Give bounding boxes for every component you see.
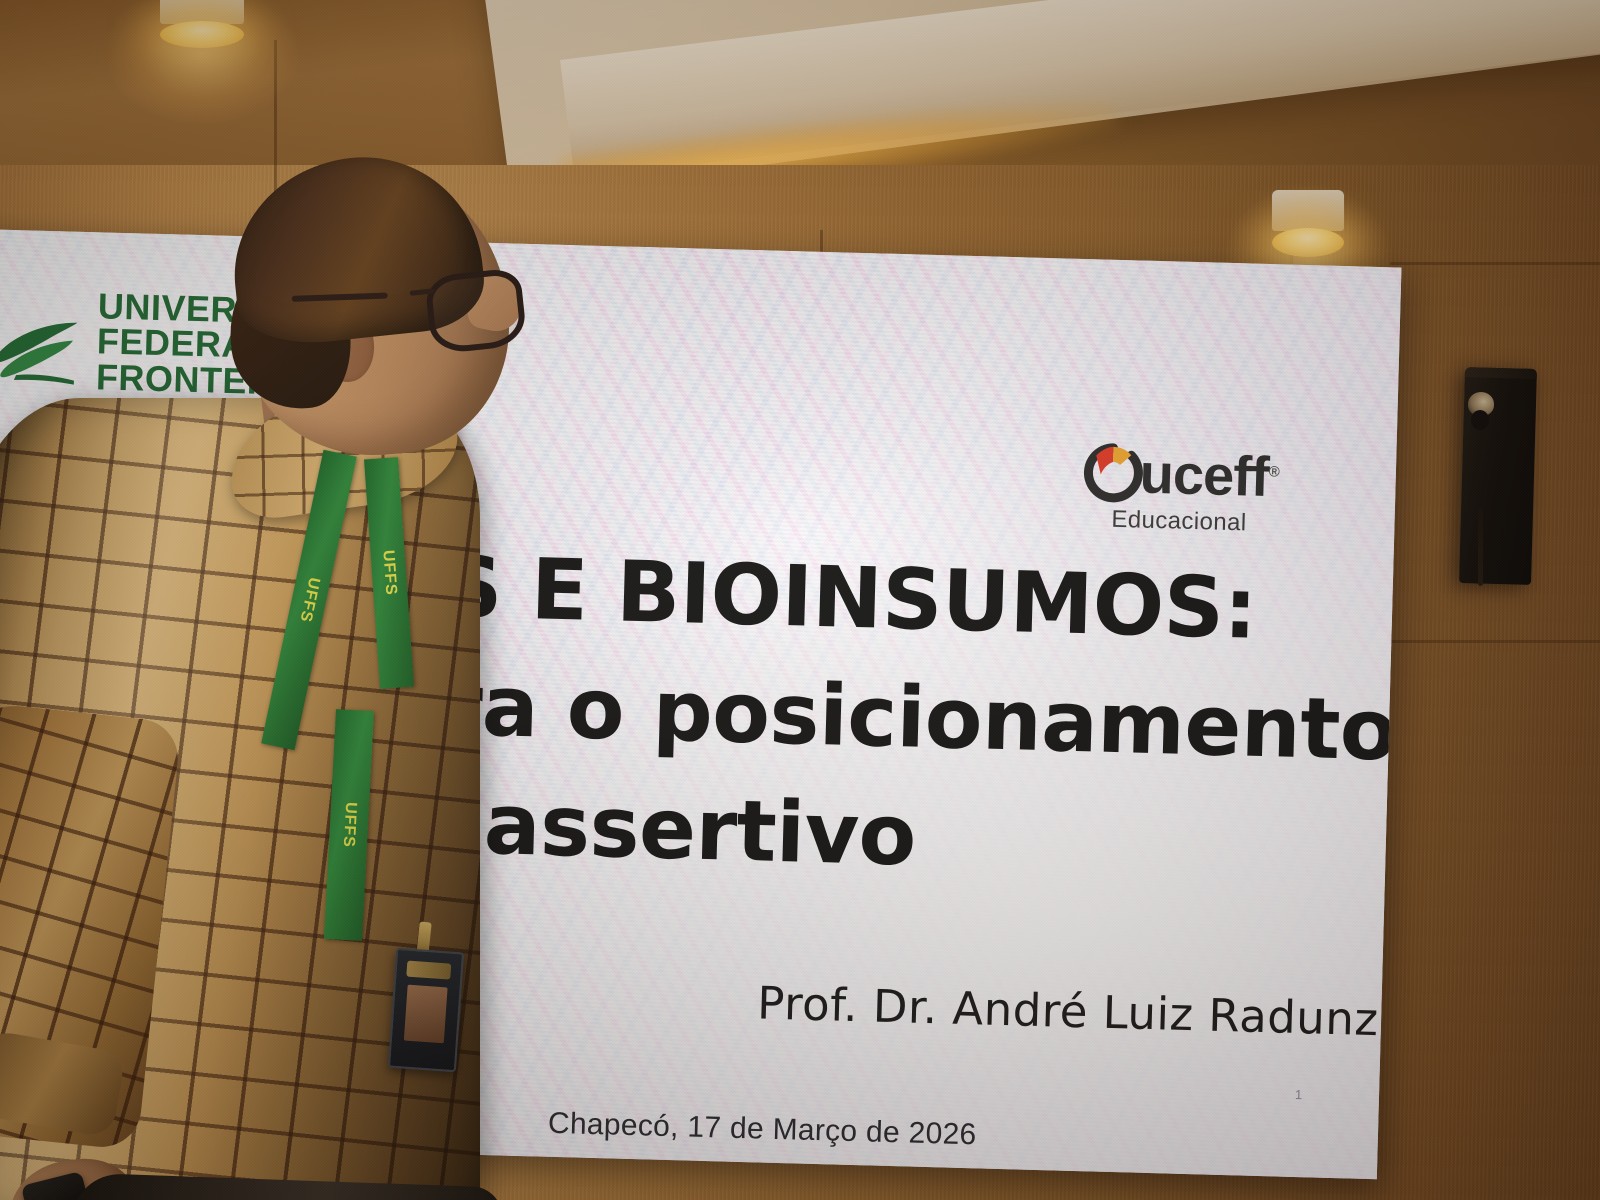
ceiling-downlight-left — [160, 0, 244, 48]
uceff-ring-icon — [1081, 441, 1145, 505]
downlight-body — [1272, 190, 1344, 231]
uceff-logo: uceff® Educacional — [1080, 441, 1279, 538]
uceff-word-text: uceff — [1139, 442, 1269, 508]
uceff-registered-mark: ® — [1268, 463, 1279, 480]
id-badge — [388, 948, 464, 1072]
badge-photo — [404, 985, 448, 1044]
ceiling-downlight-right — [1272, 190, 1344, 256]
presentation-photo-scene: UNIVERSIDADE FEDERAL DA FRONTEIRA SUL CA… — [0, 0, 1600, 1200]
slide-presenter-name: Prof. Dr. André Luiz Radunz — [757, 976, 1380, 1046]
wall-seam — [1390, 262, 1600, 265]
uceff-wordmark: uceff® — [1139, 446, 1279, 506]
presenter-person: UFFS UFFS UFFS — [0, 150, 560, 1200]
downlight-lens — [160, 21, 244, 48]
speaker-cable — [1478, 508, 1483, 586]
speaker-top-cap — [1465, 367, 1537, 379]
slide-date: Chapecó, 17 de Março de 2026 — [548, 1107, 977, 1153]
uceff-subtitle: Educacional — [1080, 505, 1278, 538]
speaker-mount-ball — [1471, 410, 1489, 430]
glasses-lens-right — [424, 267, 528, 355]
slide-page-number: 1 — [1295, 1087, 1303, 1102]
badge-header-strip — [406, 961, 451, 980]
uceff-logo-row: uceff® — [1081, 441, 1279, 508]
eyeglasses — [348, 263, 528, 365]
downlight-lens — [1272, 228, 1344, 257]
